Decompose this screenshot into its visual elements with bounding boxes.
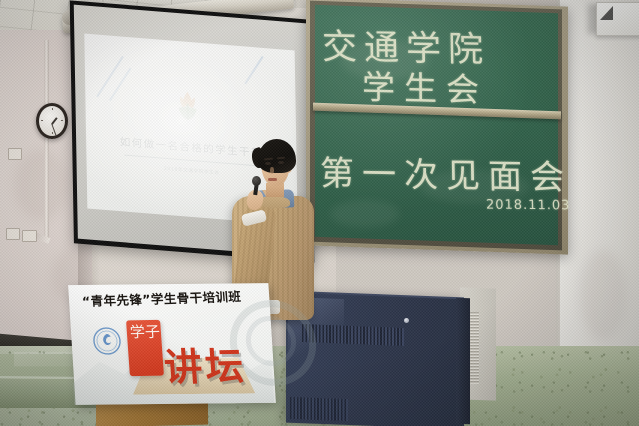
wall-conduit-pipe — [44, 40, 49, 240]
banner-title-calligraphy: 讲坛 — [162, 335, 248, 391]
power-outlet[interactable] — [8, 148, 22, 160]
lectern-side — [456, 298, 470, 425]
chalk-smudge — [330, 200, 400, 228]
presenter-eye — [265, 162, 271, 165]
power-outlet[interactable] — [6, 228, 20, 240]
power-outlet[interactable] — [22, 230, 37, 242]
speaker-bracket-icon — [600, 6, 613, 20]
lectern-screw — [404, 318, 409, 323]
wall-panel-vent — [470, 312, 479, 384]
blackboard-line-2: 学生会 — [362, 60, 488, 111]
banner-stamp-text: 学子 — [129, 324, 160, 342]
presenter-mouth — [268, 178, 277, 181]
wall-stain — [580, 250, 626, 340]
blackboard-line-3: 第一次见面会 — [320, 146, 573, 199]
blackboard-date: 2018.11.03 — [486, 198, 571, 214]
microphone-icon[interactable] — [252, 176, 261, 186]
lectern-vent-grille — [290, 397, 348, 421]
clock-face — [39, 106, 65, 136]
presenter-nose — [270, 167, 274, 174]
wall-stain — [14, 150, 68, 220]
classroom-photo-scene: 如何做一名合格的学生干部 2018年交通学院学生会 交通学院 学生会 第一次见面… — [0, 0, 639, 426]
presenter-eye — [278, 161, 284, 164]
analog-wall-clock — [36, 103, 68, 139]
